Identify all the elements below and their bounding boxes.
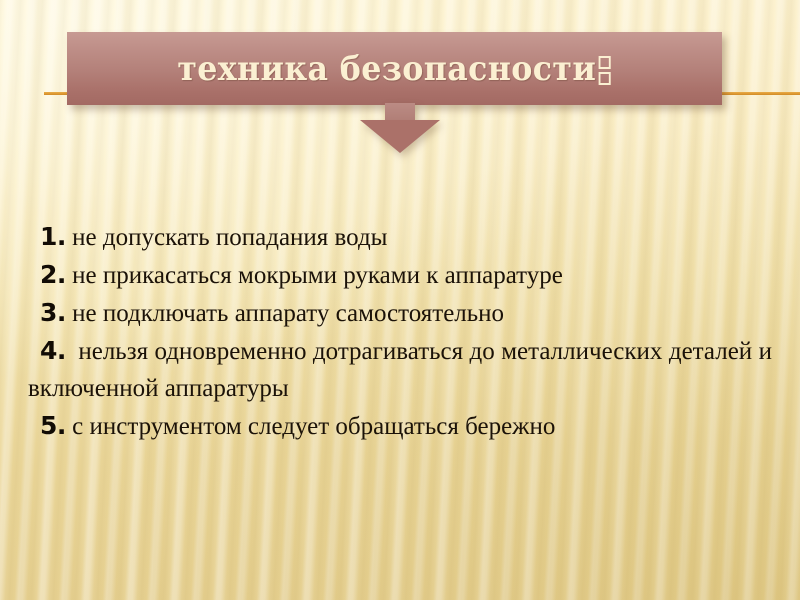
list-item-number: 5.: [40, 411, 66, 440]
list-item-number: 4.: [40, 336, 66, 365]
list-item: 2. не прикасаться мокрыми руками к аппар…: [28, 256, 772, 294]
list-item-label: с инструментом следует обращаться бережн…: [72, 413, 555, 440]
list-item-number: 1.: [40, 222, 66, 251]
slide-root: техника безопасности 1. не допускать поп…: [0, 0, 800, 600]
page-title: техника безопасности: [178, 49, 597, 89]
list-item-label: не подключать аппарату самостоятельно: [72, 300, 504, 327]
title-banner: техника безопасности: [67, 32, 722, 105]
list-item-number: 2.: [40, 260, 66, 289]
arrow-head: [360, 120, 440, 153]
down-arrow-icon: [360, 103, 440, 153]
list-item: 4. нельзя одновременно дотрагиваться до …: [28, 332, 772, 407]
list-item: 5. с инструментом следует обращаться бер…: [28, 407, 772, 445]
arrow-stem: [385, 103, 415, 121]
list-item: 3. не подключать аппарату самостоятельно: [28, 294, 772, 332]
title-missing-glyph-colon-icon: [599, 56, 611, 85]
list-item-label: не допускать попадания воды: [72, 224, 387, 251]
list-item-label: не прикасаться мокрыми руками к аппарату…: [72, 262, 563, 289]
title-text-wrapper: техника безопасности: [178, 49, 612, 89]
list-item-number: 3.: [40, 298, 66, 327]
list-item: 1. не допускать попадания воды: [28, 218, 772, 256]
safety-rules-list: 1. не допускать попадания воды 2. не при…: [28, 218, 772, 445]
list-item-label: нельзя одновременно дотрагиваться до мет…: [28, 338, 772, 402]
